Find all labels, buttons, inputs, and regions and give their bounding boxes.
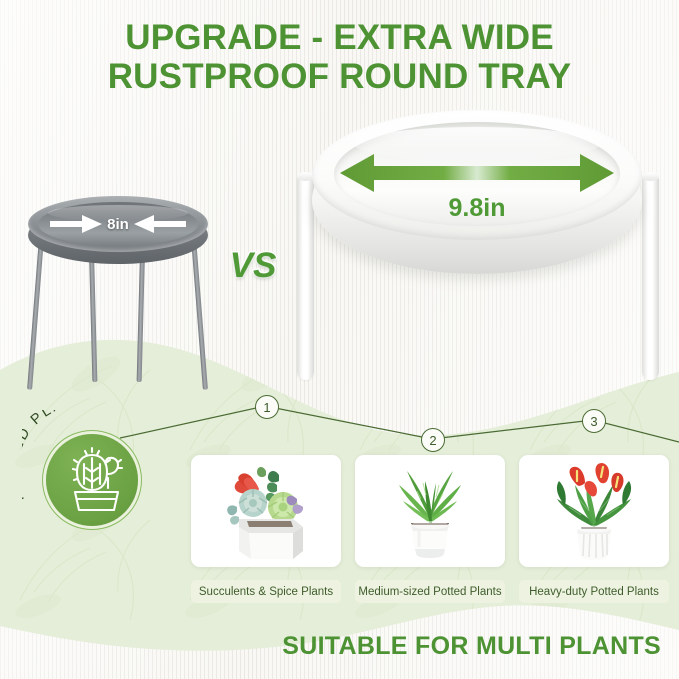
- page-title: UPGRADE - EXTRA WIDE RUSTPROOF ROUND TRA…: [0, 18, 679, 96]
- arrow-left-icon: [132, 214, 186, 234]
- connector-node-2: 2: [421, 428, 445, 452]
- old-dimension-label: 8in: [107, 216, 129, 233]
- connector-node-number: 2: [429, 433, 436, 448]
- vs-label: VS: [222, 243, 284, 289]
- footer-headline: SUITABLE FOR MULTI PLANTS: [282, 632, 661, 661]
- plant-card[interactable]: [519, 455, 669, 567]
- new-tray: 9.8in: [312, 110, 642, 292]
- plant-card-caption: Succulents & Spice Plants: [191, 580, 341, 603]
- new-dimension-label: 9.8in: [334, 194, 620, 223]
- connector-node-number: 3: [590, 414, 597, 429]
- plant-card[interactable]: [355, 455, 505, 567]
- connector-node-1: 1: [255, 395, 279, 419]
- title-line-1: UPGRADE - EXTRA WIDE: [0, 18, 679, 57]
- title-line-2: RUSTPROOF ROUND TRAY: [0, 57, 679, 96]
- plant-card-caption: Medium-sized Potted Plants: [355, 580, 505, 603]
- plant-card-caption: Heavy-duty Potted Plants: [519, 580, 669, 603]
- red-anthurium-in-ribbed-white-pot-image: [519, 455, 669, 567]
- double-arrow-horizontal-icon: [334, 150, 620, 196]
- connector-node-3: 3: [582, 409, 606, 433]
- potted-plant-badge: POTTED PLANT: [22, 410, 162, 550]
- arrow-right-icon: [50, 214, 104, 234]
- aloe-in-round-white-pot-image: [355, 455, 505, 567]
- new-dimension-indicator: 9.8in: [334, 150, 620, 230]
- connector-node-number: 1: [263, 400, 270, 415]
- succulents-in-hexagonal-white-pot-image: [191, 455, 341, 567]
- old-tray: 8in: [28, 196, 208, 274]
- plant-card[interactable]: [191, 455, 341, 567]
- plant-card-list: Succulents & Spice Plants: [191, 455, 669, 620]
- old-dimension-indicator: 8in: [38, 210, 198, 238]
- cactus-pot-icon: [46, 434, 138, 526]
- infographic-canvas: UPGRADE - EXTRA WIDE RUSTPROOF ROUND TRA…: [0, 0, 679, 679]
